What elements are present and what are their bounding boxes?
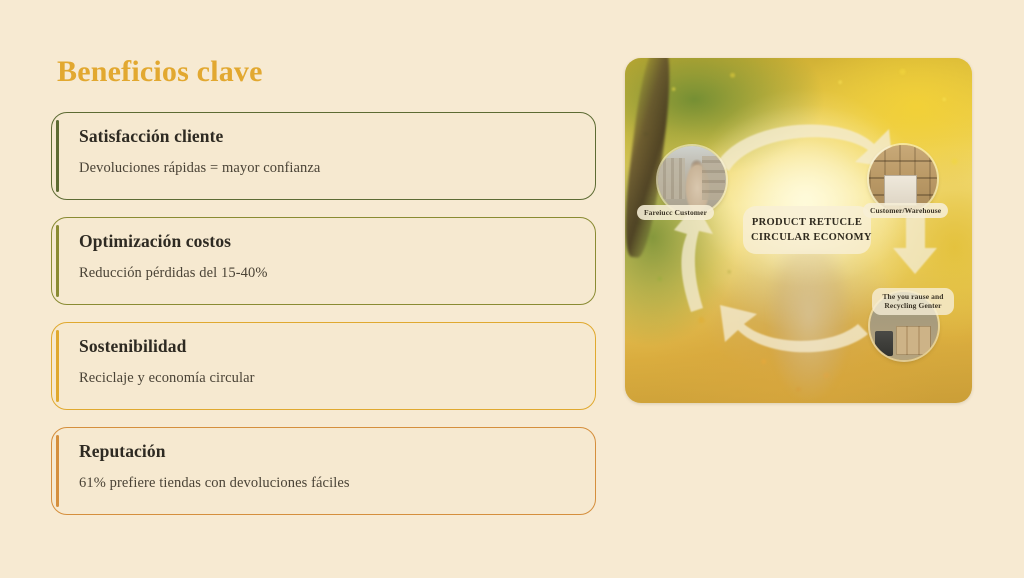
benefit-card-optimizacion-costos[interactable]: Optimización costos Reducción pérdidas d…: [51, 217, 596, 305]
center-title-line-2: CIRCULAR ECONOMY: [751, 230, 863, 245]
circular-economy-illustration: Fareiucc Customer Customer/Warehouse The…: [625, 58, 972, 403]
benefit-card-reputacion[interactable]: Reputación 61% prefiere tiendas con devo…: [51, 427, 596, 515]
benefit-card-description: 61% prefiere tiendas con devoluciones fá…: [79, 475, 573, 492]
benefit-card-sostenibilidad[interactable]: Sostenibilidad Reciclaje y economía circ…: [51, 322, 596, 410]
slide-root: Beneficios clave Satisfacción cliente De…: [0, 0, 1024, 578]
card-accent-bar: [56, 330, 59, 402]
node-photo-customer: [658, 146, 726, 214]
page-title: Beneficios clave: [57, 55, 263, 89]
node-label-warehouse: Customer/Warehouse: [863, 203, 948, 218]
card-accent-bar: [56, 435, 59, 507]
center-title-line-1: PRODUCT RETUCLE: [751, 215, 863, 230]
node-label-recycling-center: The you rause and Recycling Genter: [872, 288, 954, 315]
benefit-card-description: Reducción pérdidas del 15-40%: [79, 265, 573, 282]
card-accent-bar: [56, 120, 59, 192]
benefit-card-title: Sostenibilidad: [79, 337, 573, 356]
benefit-card-title: Satisfacción cliente: [79, 127, 573, 146]
benefit-card-title: Reputación: [79, 442, 573, 461]
benefit-card-title: Optimización costos: [79, 232, 573, 251]
customer-photo: [658, 146, 726, 214]
benefits-card-list: Satisfacción cliente Devoluciones rápida…: [51, 112, 596, 532]
benefit-card-satisfaccion-cliente[interactable]: Satisfacción cliente Devoluciones rápida…: [51, 112, 596, 200]
benefit-card-description: Reciclaje y economía circular: [79, 370, 573, 387]
diagram-center-title: PRODUCT RETUCLE CIRCULAR ECONOMY: [743, 206, 871, 254]
card-accent-bar: [56, 225, 59, 297]
node-label-customer: Fareiucc Customer: [637, 205, 714, 220]
benefit-card-description: Devoluciones rápidas = mayor confianza: [79, 160, 573, 177]
